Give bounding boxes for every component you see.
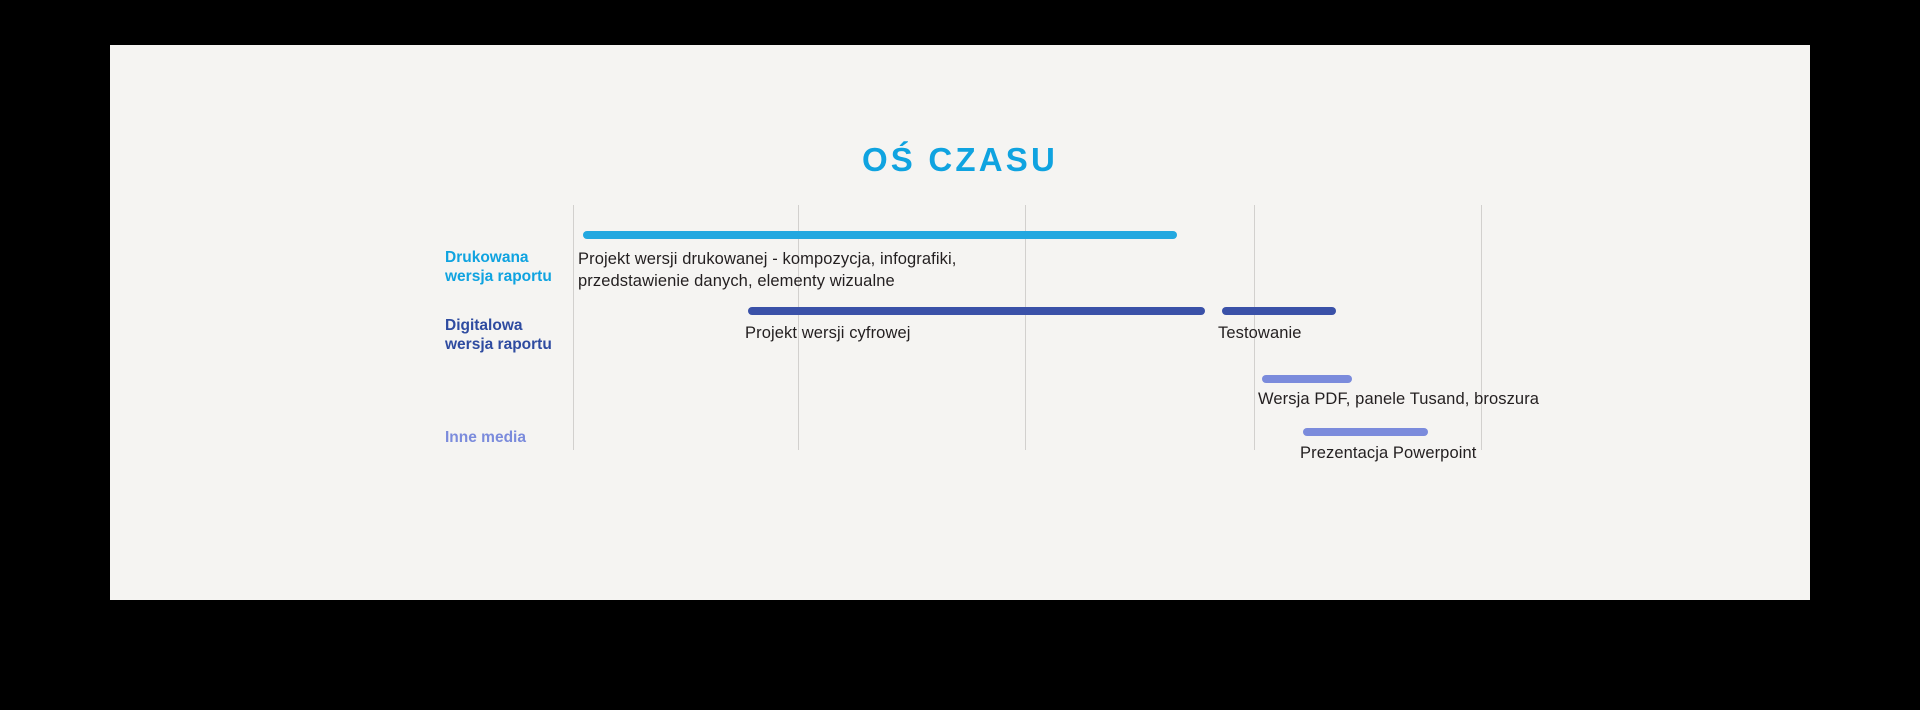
bar-pdf-panels-brochure-caption: Wersja PDF, panele Tusand, broszura [1258,388,1539,410]
axis-gridline-2 [1025,205,1026,450]
timeline-slide: OŚ CZASU Drukowana wersja raportuProjekt… [110,45,1810,600]
gantt-chart-plot-area: Drukowana wersja raportuProjekt wersji d… [110,45,1810,600]
bar-printed-design-caption: Projekt wersji drukowanej - kompozycja, … [578,248,956,292]
bar-pdf-panels-brochure[interactable] [1262,375,1352,383]
bar-powerpoint-presentation-caption: Prezentacja Powerpoint [1300,442,1476,464]
bar-printed-design[interactable] [583,231,1177,239]
bar-digital-design[interactable] [748,307,1205,315]
bar-testing-caption: Testowanie [1218,322,1302,344]
axis-gridline-4 [1481,205,1482,450]
row-label-1: Digitalowa wersja raportu [445,316,552,354]
bar-testing[interactable] [1222,307,1336,315]
bar-digital-design-caption: Projekt wersji cyfrowej [745,322,911,344]
row-label-0: Drukowana wersja raportu [445,248,552,286]
bar-powerpoint-presentation[interactable] [1303,428,1428,436]
row-label-2: Inne media [445,428,526,447]
axis-gridline-0 [573,205,574,450]
